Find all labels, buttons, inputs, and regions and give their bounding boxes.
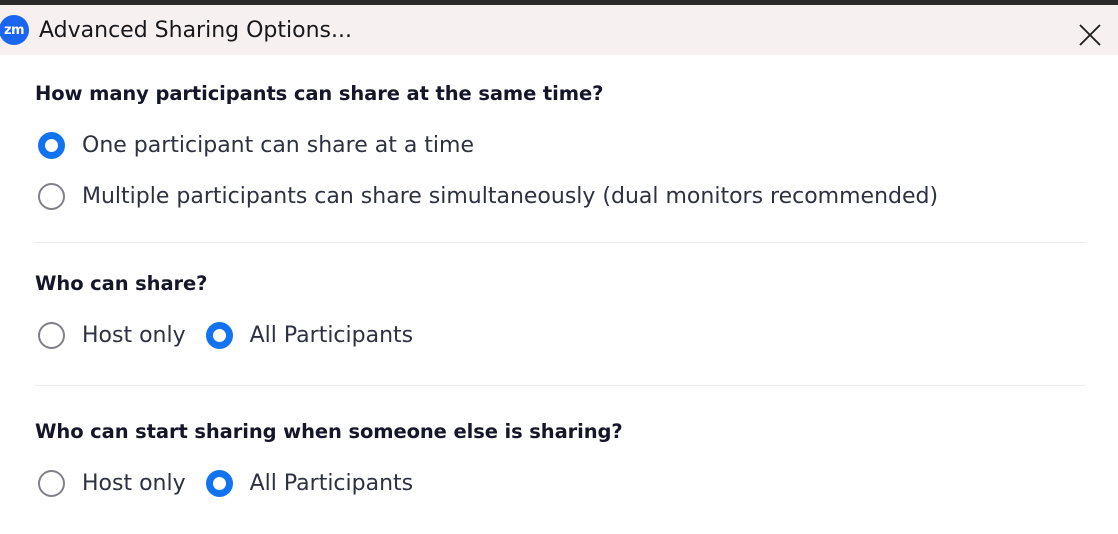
radio-icon-unselected[interactable] (38, 470, 65, 497)
radio-option-label: One participant can share at a time (82, 135, 474, 157)
section-divider (35, 242, 1085, 243)
radio-option-label-host-only[interactable]: Host only (82, 325, 186, 347)
radio-group-who-can-share: Host only All Participants (38, 322, 413, 349)
section-divider (35, 385, 1085, 386)
section-heading-who-can-start-sharing: Who can start sharing when someone else … (35, 420, 623, 443)
radio-icon-unselected[interactable] (38, 322, 65, 349)
close-icon[interactable] (1062, 10, 1118, 60)
advanced-sharing-options-dialog: zm Advanced Sharing Options... How many … (0, 0, 1118, 534)
radio-option-label-all-participants[interactable]: All Participants (250, 325, 414, 347)
radio-group-who-can-start-sharing: Host only All Participants (38, 470, 413, 497)
radio-icon-selected[interactable] (206, 470, 233, 497)
radio-icon-selected[interactable] (38, 132, 65, 159)
section-heading-share-count: How many participants can share at the s… (35, 82, 603, 105)
radio-icon-selected[interactable] (206, 322, 233, 349)
radio-option-label-all-participants[interactable]: All Participants (250, 473, 414, 495)
dialog-title: Advanced Sharing Options... (39, 18, 352, 43)
radio-option-label-host-only[interactable]: Host only (82, 473, 186, 495)
title-bar-left: zm Advanced Sharing Options... (0, 5, 352, 55)
radio-option-label: Multiple participants can share simultan… (82, 186, 938, 208)
title-bar: zm Advanced Sharing Options... (0, 0, 1118, 55)
radio-option-one-participant[interactable]: One participant can share at a time (38, 132, 474, 159)
radio-option-multiple-participants[interactable]: Multiple participants can share simultan… (38, 183, 938, 210)
section-heading-who-can-share: Who can share? (35, 272, 207, 295)
radio-icon-unselected[interactable] (38, 183, 65, 210)
zoom-app-icon: zm (0, 15, 29, 45)
